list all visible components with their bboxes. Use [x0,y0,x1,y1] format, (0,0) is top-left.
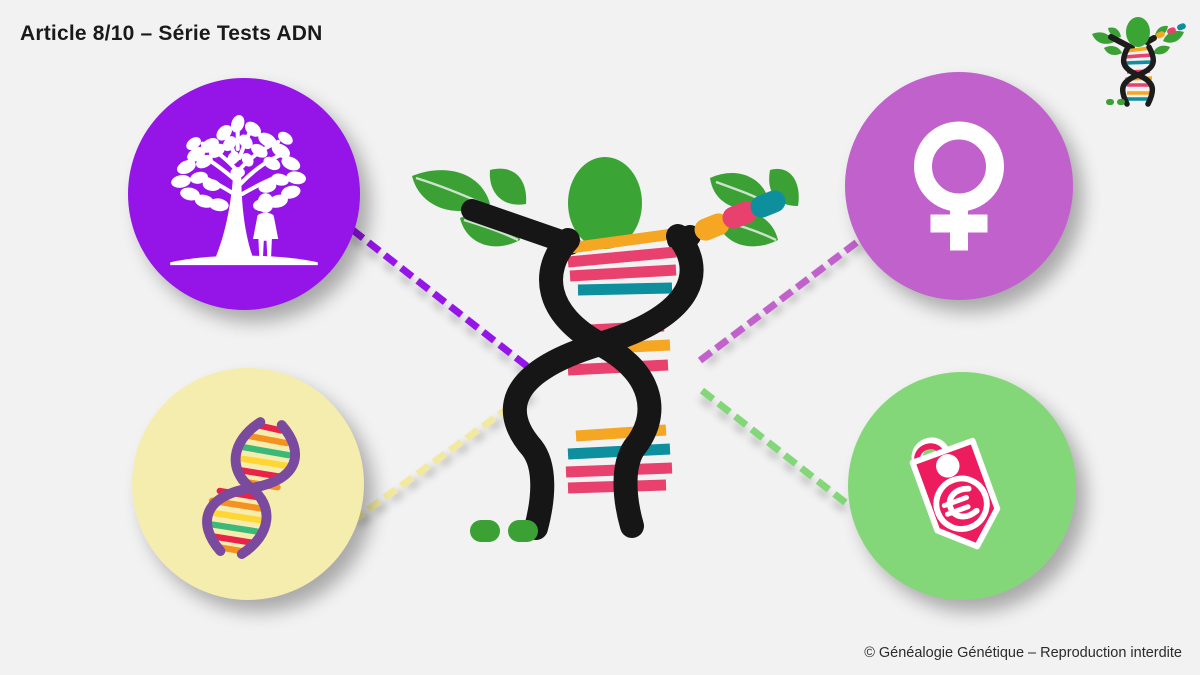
node-female-gender[interactable] [845,72,1073,300]
dna-helix-icon [158,394,338,574]
family-tree-icon [154,104,334,284]
dna-person-logo [1084,4,1192,108]
foot-dots [470,520,538,542]
node-price-tag[interactable] [848,372,1076,600]
node-family-tree[interactable] [128,78,360,310]
copyright-footer: © Généalogie Génétique – Reproduction in… [864,645,1182,661]
page-title: Article 8/10 – Série Tests ADN [20,22,322,46]
dna-person-figure [398,148,802,558]
price-tag-euro-icon [878,402,1046,570]
slide-canvas: Article 8/10 – Série Tests ADN [0,0,1200,675]
node-dna-helix[interactable] [132,368,364,600]
female-venus-icon [884,111,1034,261]
